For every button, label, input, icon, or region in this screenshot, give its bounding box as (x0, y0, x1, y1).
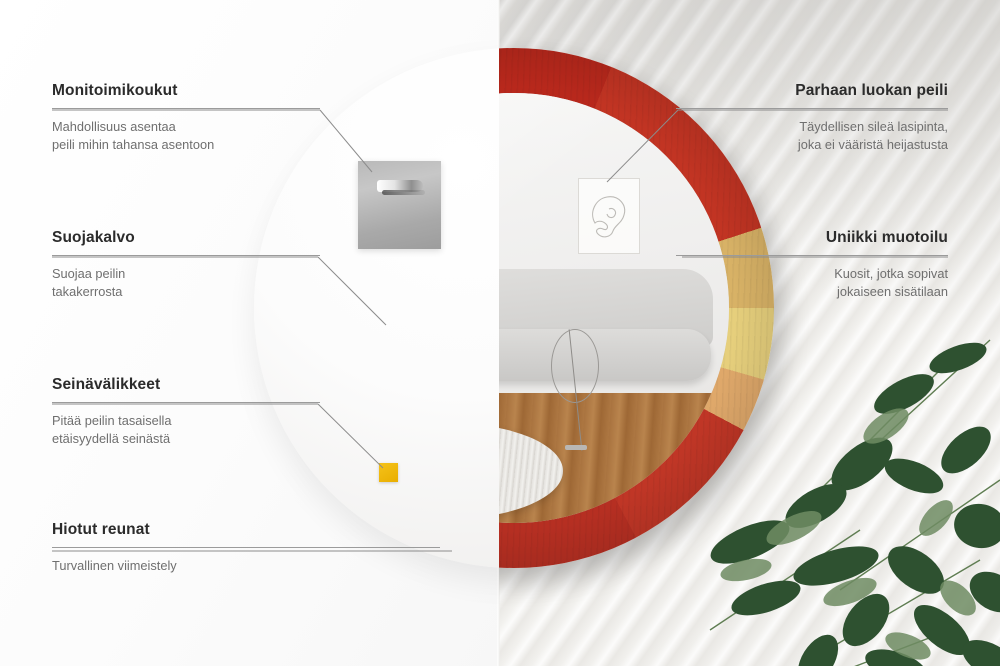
callout-suojakalvo: Suojakalvo Suojaa peilin takakerrosta (52, 229, 320, 300)
callout-title: Suojakalvo (52, 229, 320, 247)
callout-title: Parhaan luokan peili (676, 82, 948, 100)
callout-uniikki-muotoilu: Uniikki muotoilu Kuosit, jotka sopivat j… (676, 229, 948, 300)
callout-title: Monitoimikoukut (52, 82, 320, 100)
callout-divider (676, 108, 948, 109)
callout-description: Kuosit, jotka sopivat jokaiseen sisätila… (676, 265, 948, 300)
callout-divider (52, 108, 320, 109)
callout-description: Turvallinen viimeistely (52, 557, 440, 575)
callout-description: Täydellisen sileä lasipinta, joka ei vää… (676, 118, 948, 153)
callout-divider (676, 255, 948, 256)
callout-monitoimikoukut: Monitoimikoukut Mahdollisuus asentaa pei… (52, 82, 320, 153)
hook-drop-shadow (382, 190, 425, 195)
callout-description: Pitää peilin tasaisella etäisyydellä sei… (52, 412, 320, 447)
callout-divider (52, 547, 440, 548)
plant-foliage (690, 330, 1000, 666)
callout-description: Mahdollisuus asentaa peili mihin tahansa… (52, 118, 320, 153)
callout-seinavalikkeet: Seinävälikkeet Pitää peilin tasaisella e… (52, 376, 320, 447)
callout-title: Uniikki muotoilu (676, 229, 948, 247)
line-art-picture-frame (578, 178, 640, 254)
callout-description: Suojaa peilin takakerrosta (52, 265, 320, 300)
abstract-face-line-art-icon (579, 179, 639, 253)
callout-parhaan-luokan-peili: Parhaan luokan peili Täydellisen sileä l… (676, 82, 948, 153)
mounting-hook-plate (358, 161, 441, 249)
wall-spacer-chip (379, 463, 398, 482)
callout-title: Seinävälikkeet (52, 376, 320, 394)
callout-hiotut-reunat: Hiotut reunat Turvallinen viimeistely (52, 521, 440, 575)
callout-title: Hiotut reunat (52, 521, 440, 539)
callout-divider (52, 255, 320, 256)
product-infographic: Monitoimikoukut Mahdollisuus asentaa pei… (0, 0, 1000, 666)
callout-divider (52, 402, 320, 403)
